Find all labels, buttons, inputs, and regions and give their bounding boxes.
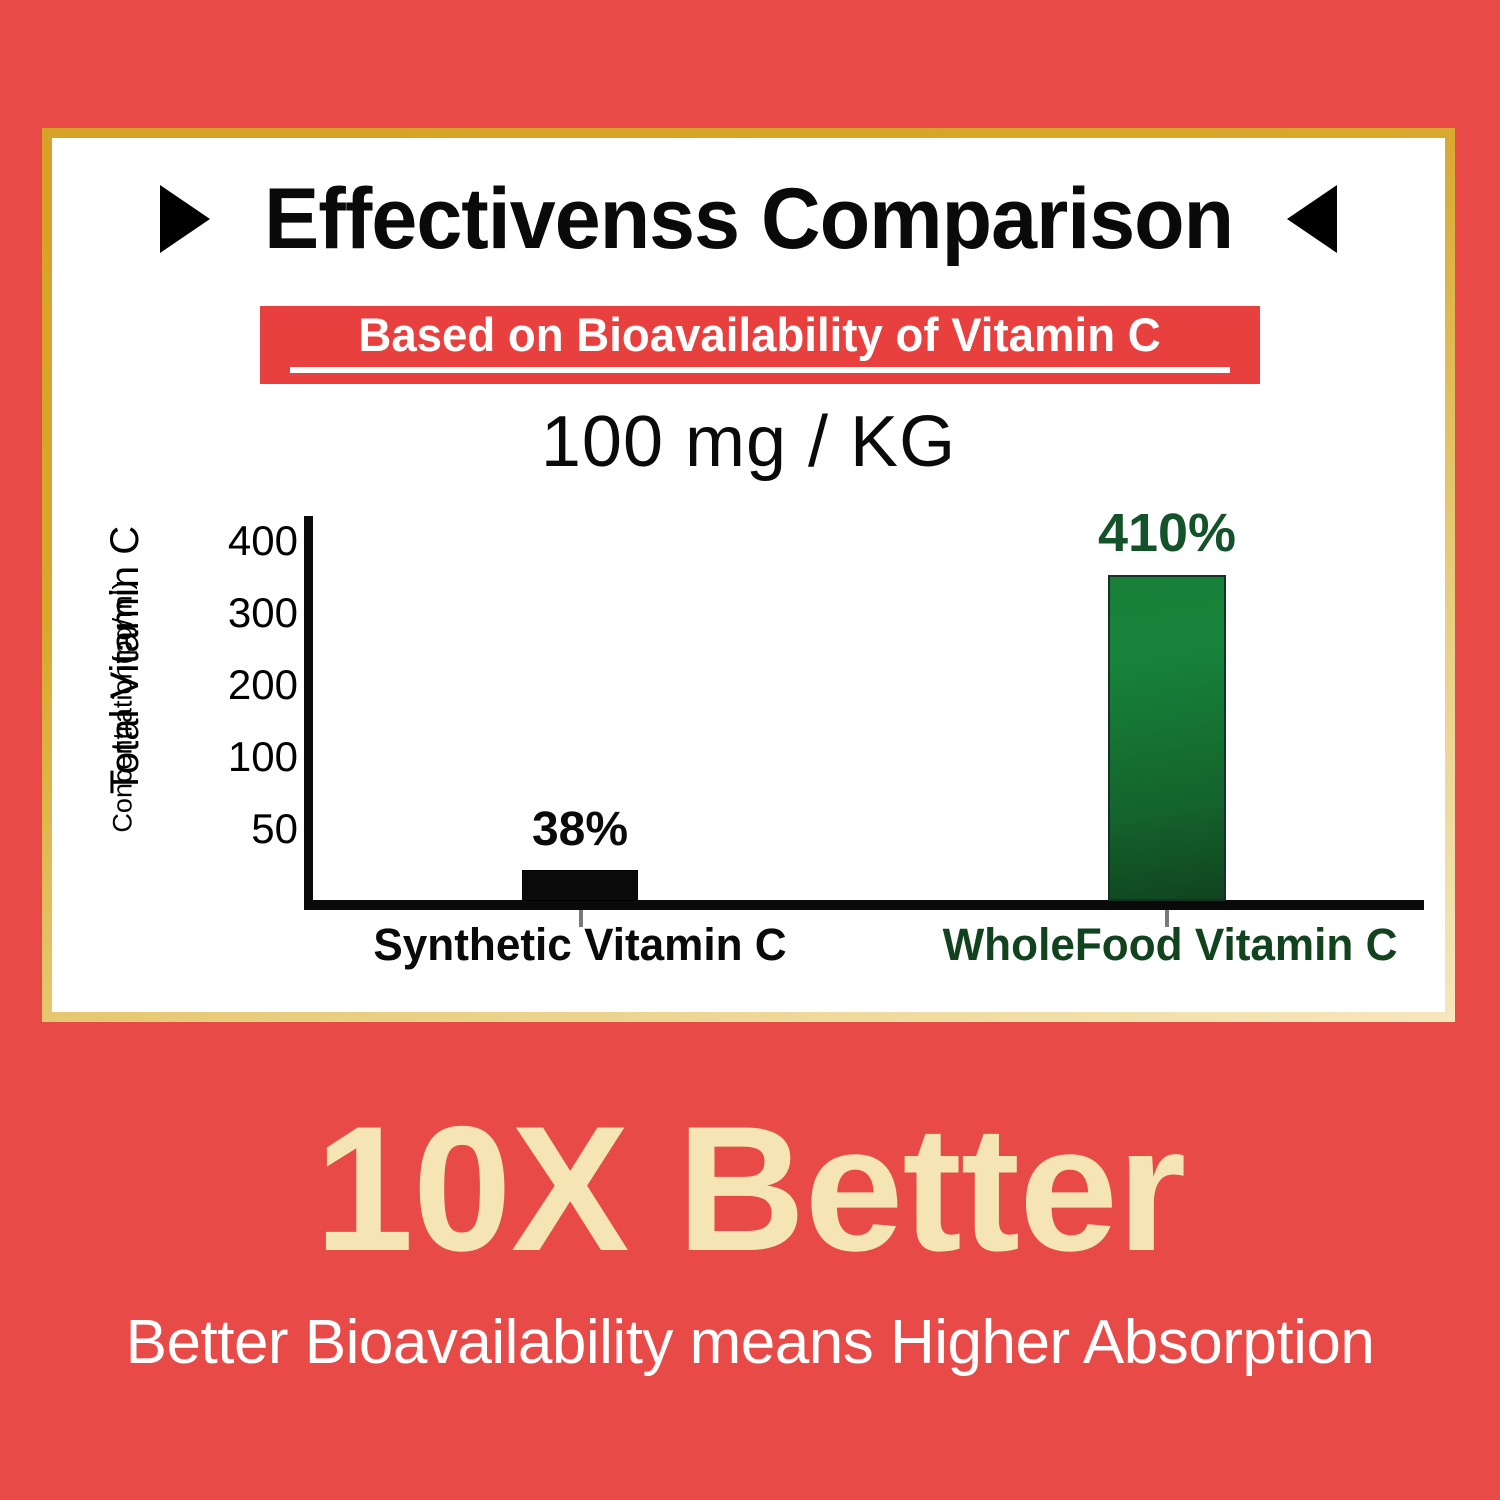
dose-annotation: 100 mg / KG bbox=[52, 406, 1445, 478]
banner-underline bbox=[290, 367, 1230, 373]
y-tick-200: 200 bbox=[212, 664, 298, 706]
y-tick-100: 100 bbox=[212, 736, 298, 778]
title-row: Effectivenss Comparison bbox=[52, 176, 1445, 262]
triangle-left-icon bbox=[1287, 185, 1337, 253]
x-label-wholefood: WholeFood Vitamin C bbox=[937, 922, 1403, 967]
y-axis-line bbox=[304, 516, 313, 908]
headline-claim: 10X Better bbox=[0, 1100, 1500, 1278]
y-tick-400: 400 bbox=[212, 520, 298, 562]
bar-wholefood bbox=[1108, 575, 1226, 901]
subtitle-banner-label: Based on Bioavailability of Vitamin C bbox=[359, 311, 1161, 359]
subline-claim: Better Bioavailability means Higher Abso… bbox=[0, 1312, 1500, 1374]
bar-synthetic bbox=[522, 870, 638, 901]
bar-value-wholefood: 410% bbox=[1067, 506, 1267, 560]
triangle-right-icon bbox=[160, 185, 210, 253]
bar-value-synthetic: 38% bbox=[482, 806, 678, 854]
subtitle-banner: Based on Bioavailability of Vitamin C bbox=[260, 306, 1260, 384]
comparison-card-frame: Effectivenss Comparison Based on Bioavai… bbox=[42, 128, 1455, 1022]
footer: 10X Better Better Bioavailability means … bbox=[0, 1100, 1500, 1374]
bar-chart: Total Vitamin C Concentration(pg/ml) 400… bbox=[52, 498, 1445, 998]
x-label-synthetic: Synthetic Vitamin C bbox=[347, 922, 813, 967]
y-tick-300: 300 bbox=[212, 592, 298, 634]
y-axis-subtitle: Concentration(pg/ml) bbox=[110, 572, 137, 842]
y-axis-ticks: 400 300 200 100 50 bbox=[212, 520, 298, 850]
x-axis-line bbox=[304, 900, 1424, 910]
comparison-card: Effectivenss Comparison Based on Bioavai… bbox=[52, 138, 1445, 1012]
y-tick-50: 50 bbox=[212, 808, 298, 850]
page-title: Effectivenss Comparison bbox=[264, 176, 1233, 262]
